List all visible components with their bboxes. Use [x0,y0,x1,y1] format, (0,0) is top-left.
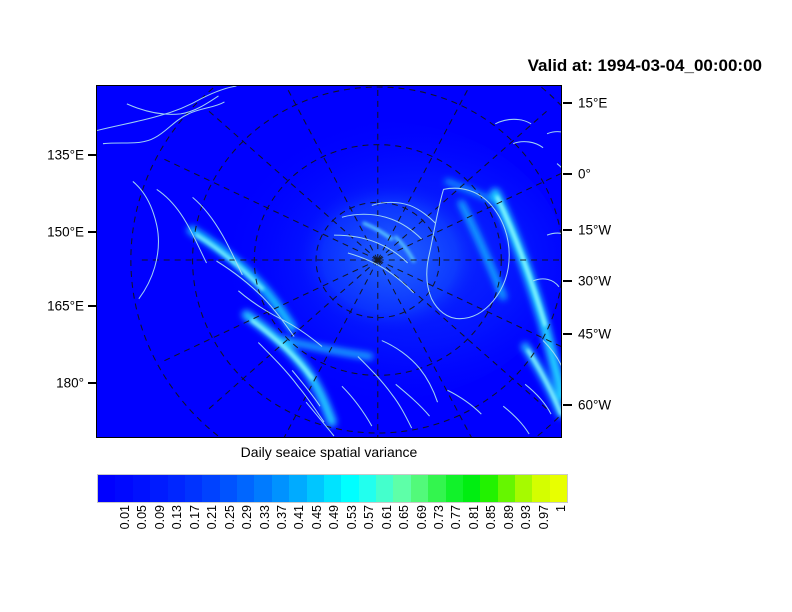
axis-label-left: 165°E [10,299,84,313]
colorbar-tick-label: 0.69 [416,505,429,529]
colorbar-swatch [515,475,532,502]
axis-label-left: 135°E [10,148,84,162]
colorbar-swatch [532,475,549,502]
colorbar-swatch [428,475,445,502]
colorbar-swatch [150,475,167,502]
axis-label-right: 30°W [578,274,678,288]
seaice-variance-map [97,86,561,437]
colorbar-swatch [289,475,306,502]
colorbar-swatch [550,475,567,502]
colorbar-tick-label: 0.49 [328,505,341,529]
colorbar-swatch [324,475,341,502]
colorbar-tick-label: 0.21 [206,505,219,529]
colorbar-swatch [133,475,150,502]
colorbar-swatch [98,475,115,502]
colorbar-container[interactable] [97,474,568,503]
colorbar-swatch [254,475,271,502]
colorbar-tick-label: 0.89 [503,505,516,529]
colorbar-swatch [185,475,202,502]
colorbar-tick-label: 0.25 [224,505,237,529]
page-title: Valid at: 1994-03-04_00:00:00 [300,56,762,76]
colorbar-tick-label: 0.13 [171,505,184,529]
axis-label-left: 180° [10,376,84,390]
colorbar-swatch [307,475,324,502]
colorbar-tick-label: 0.97 [538,505,551,529]
colorbar-tick-label: 0.77 [450,505,463,529]
axis-label-right: 60°W [578,398,678,412]
colorbar-tick-label: 0.81 [468,505,481,529]
colorbar-tick-label: 0.33 [259,505,272,529]
colorbar-tick-labels: 0.010.050.090.130.170.210.250.290.330.37… [97,505,568,565]
axis-tick-right [563,102,572,103]
axis-label-right: 45°W [578,327,678,341]
colorbar-tick-label: 0.45 [311,505,324,529]
colorbar-swatch [393,475,410,502]
colorbar-tick-label: 0.17 [189,505,202,529]
colorbar-swatch [168,475,185,502]
axis-tick-left [88,154,97,155]
colorbar-swatch [220,475,237,502]
axis-label-right: 15°E [578,96,678,110]
colorbar-tick-label: 0.57 [363,505,376,529]
colorbar-tick-label: 1 [555,505,568,512]
map-plot-area[interactable] [96,85,562,438]
colorbar-tick-label: 0.53 [346,505,359,529]
colorbar-tick-label: 0.65 [398,505,411,529]
axis-tick-right [563,404,572,405]
axis-label-right: 0° [578,167,678,181]
axis-tick-right [563,173,572,174]
figure-canvas: Valid at: 1994-03-04_00:00:00 [0,0,792,612]
axis-label-left: 150°E [10,225,84,239]
colorbar-swatch [463,475,480,502]
colorbar-tick-label: 0.37 [276,505,289,529]
colorbar-tick-label: 0.09 [154,505,167,529]
axis-tick-left [88,382,97,383]
colorbar-tick-label: 0.01 [119,505,132,529]
axis-tick-right [563,333,572,334]
colorbar-tick-label: 0.61 [381,505,394,529]
colorbar-swatch [411,475,428,502]
colorbar-swatch [115,475,132,502]
axis-tick-left [88,305,97,306]
colorbar-swatch [498,475,515,502]
colorbar-swatch [237,475,254,502]
colorbar-swatch [359,475,376,502]
axis-tick-left [88,231,97,232]
colorbar-swatch [272,475,289,502]
colorbar-tick-label: 0.41 [293,505,306,529]
colorbar-swatch [446,475,463,502]
colorbar-tick-label: 0.05 [136,505,149,529]
x-axis-caption: Daily seaice spatial variance [96,444,562,460]
axis-label-right: 15°W [578,223,678,237]
colorbar-swatch [202,475,219,502]
axis-tick-right [563,280,572,281]
colorbar-swatch [341,475,358,502]
colorbar-swatch [480,475,497,502]
colorbar-tick-label: 0.73 [433,505,446,529]
axis-tick-right [563,229,572,230]
colorbar-tick-label: 0.85 [485,505,498,529]
colorbar[interactable] [97,474,568,503]
colorbar-swatch [376,475,393,502]
colorbar-tick-label: 0.93 [520,505,533,529]
colorbar-tick-label: 0.29 [241,505,254,529]
